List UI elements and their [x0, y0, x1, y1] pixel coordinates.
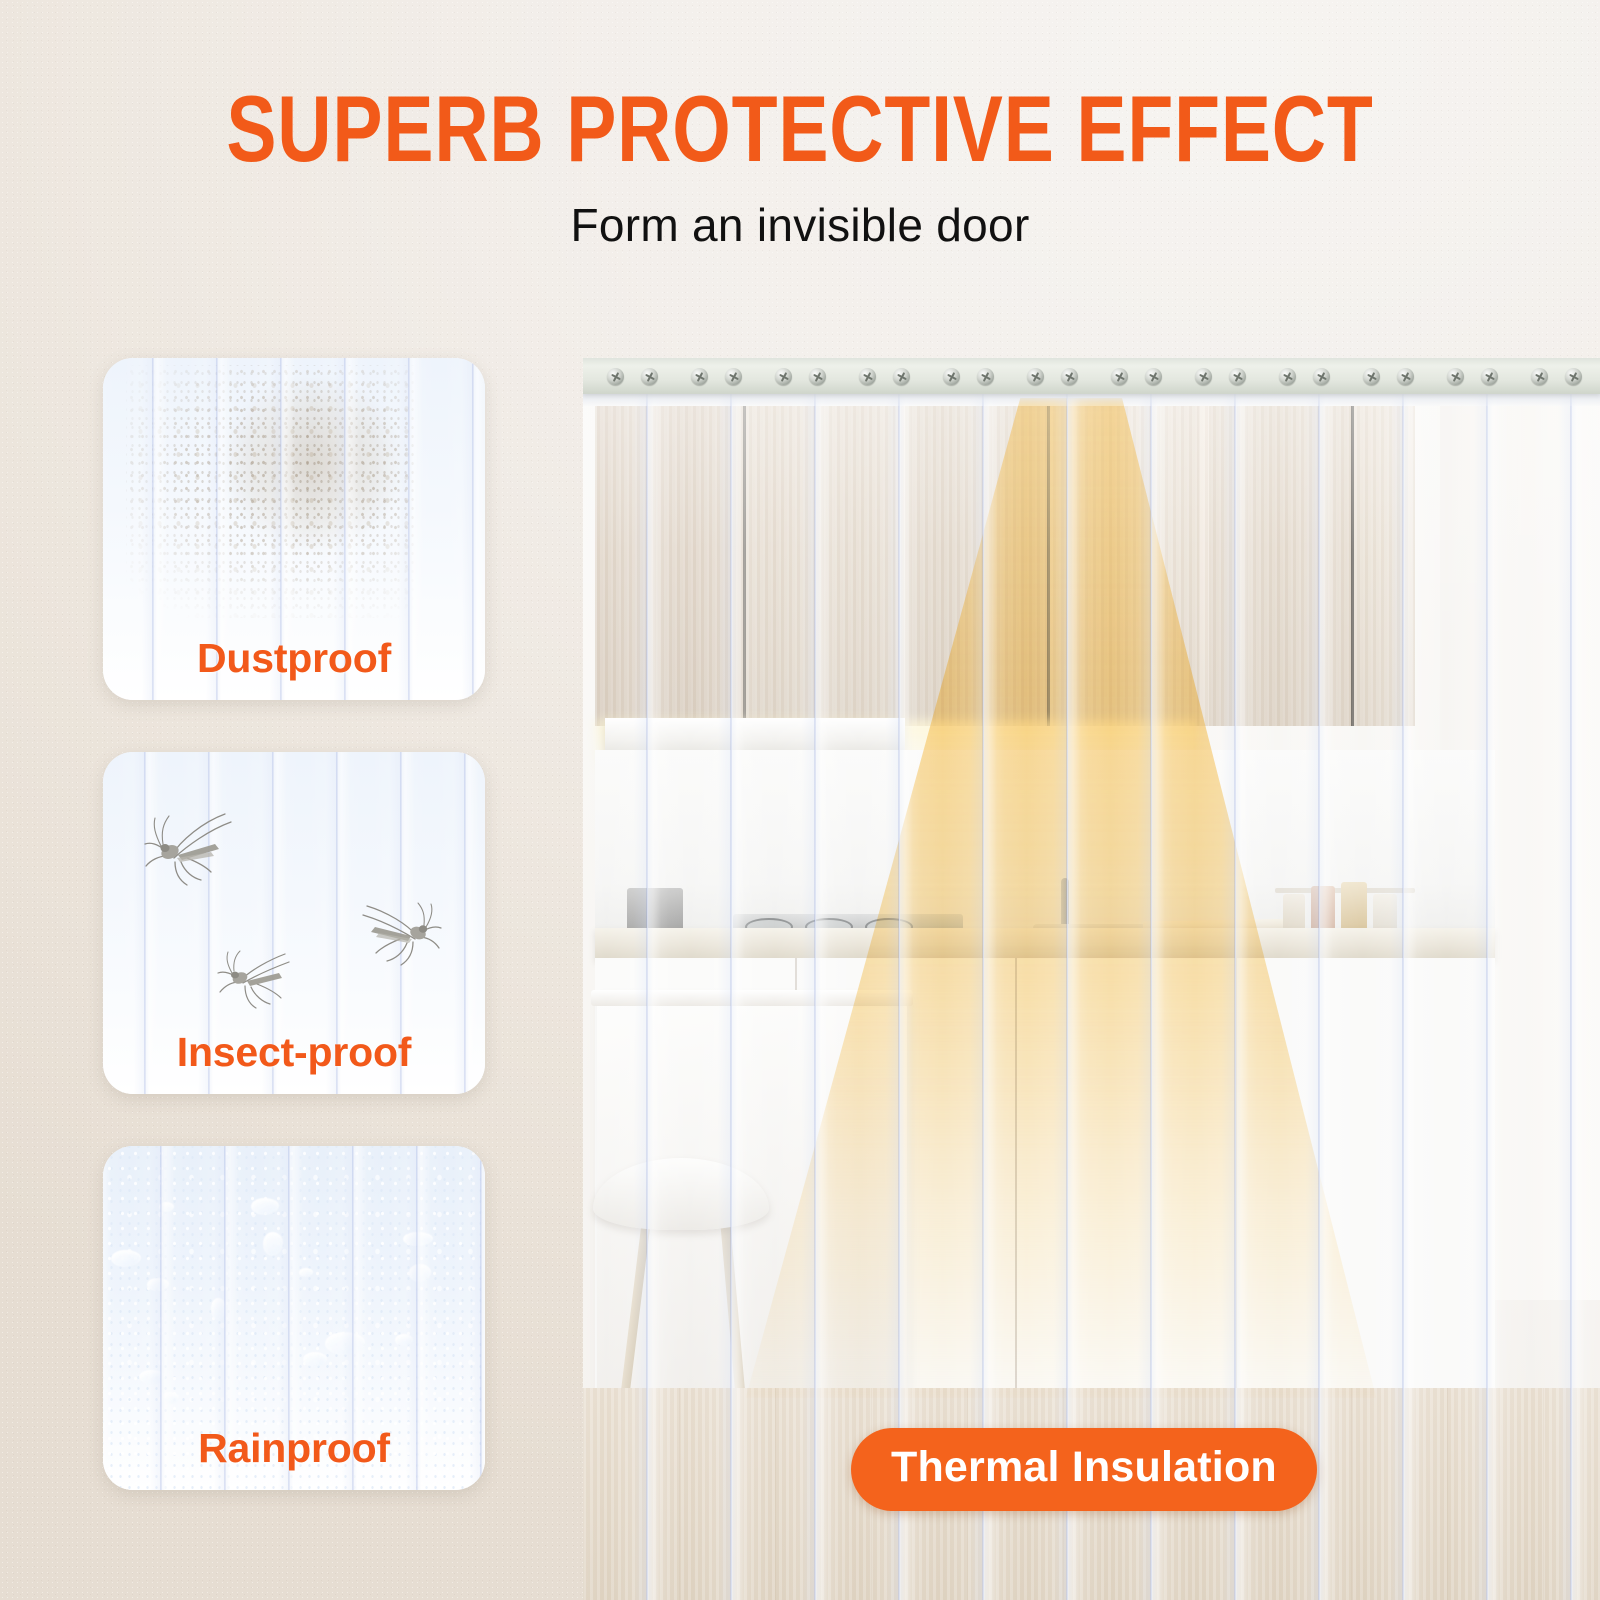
rail-screw: [1565, 368, 1582, 385]
feature-label-dustproof: Dustproof: [103, 635, 485, 682]
rail-screw: [977, 368, 994, 385]
rail-screw: [725, 368, 742, 385]
product-infographic: SUPERB PROTECTIVE EFFECT Form an invisib…: [0, 0, 1600, 1600]
rail-screw: [1363, 368, 1380, 385]
rail-screw: [809, 368, 826, 385]
rail-screw: [1279, 368, 1296, 385]
mosquito-icon: [215, 942, 315, 1018]
rail-screw: [775, 368, 792, 385]
rail-screw: [1195, 368, 1212, 385]
rail-screw: [691, 368, 708, 385]
thermal-insulation-badge[interactable]: Thermal Insulation: [851, 1428, 1317, 1511]
page-title: SUPERB PROTECTIVE EFFECT: [160, 82, 1440, 176]
rail-screw: [1313, 368, 1330, 385]
feature-card-dustproof[interactable]: Dustproof: [103, 358, 485, 700]
page-subtitle: Form an invisible door: [0, 198, 1600, 252]
rail-screw: [1481, 368, 1498, 385]
rail-screw: [1111, 368, 1128, 385]
spice-jar: [1341, 882, 1367, 934]
feature-label-insect-proof: Insect-proof: [103, 1029, 485, 1076]
rail-screw: [1061, 368, 1078, 385]
main-kitchen-photo: [583, 358, 1600, 1600]
rail-screw: [1027, 368, 1044, 385]
rail-screw: [1229, 368, 1246, 385]
rail-screw: [1447, 368, 1464, 385]
rail-screw: [1531, 368, 1548, 385]
rail-screw: [1145, 368, 1162, 385]
feature-card-insect-proof[interactable]: Insect-proof: [103, 752, 485, 1094]
header-block: SUPERB PROTECTIVE EFFECT Form an invisib…: [0, 82, 1600, 252]
rail-screw: [1397, 368, 1414, 385]
rail-screw: [893, 368, 910, 385]
rail-screw: [607, 368, 624, 385]
rail-shadow: [583, 394, 1600, 406]
rail-screw: [641, 368, 658, 385]
rail-screw: [859, 368, 876, 385]
spice-jar: [1311, 886, 1335, 934]
rail-screw: [943, 368, 960, 385]
dust-speckles: [126, 365, 416, 618]
mosquito-icon: [141, 800, 261, 890]
mounting-rail: [583, 358, 1600, 394]
feature-card-rainproof[interactable]: Rainproof: [103, 1146, 485, 1490]
mosquito-icon: [335, 892, 445, 974]
feature-label-rainproof: Rainproof: [103, 1425, 485, 1472]
